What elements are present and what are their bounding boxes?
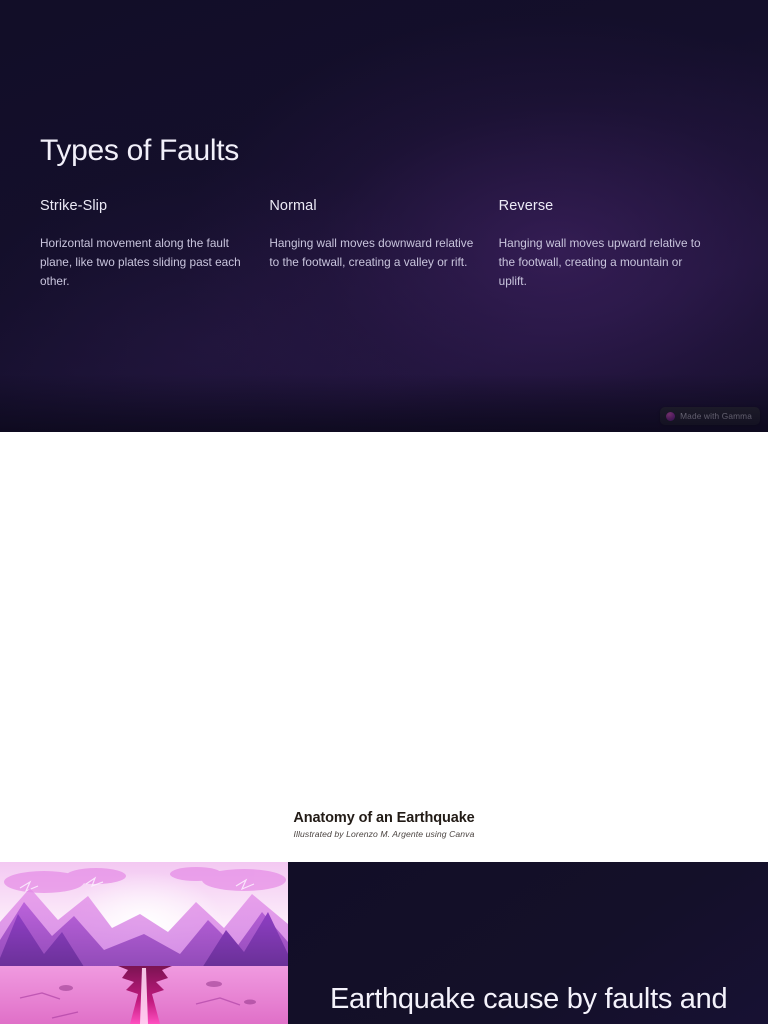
fault-body-strike-slip: Horizontal movement along the fault plan…	[40, 234, 245, 291]
earthquake-cause-heading: Earthquake cause by faults and movements…	[330, 980, 740, 1024]
bottom-text-panel: Earthquake cause by faults and movements…	[288, 862, 768, 1024]
fault-types-columns: Strike-Slip Horizontal movement along th…	[40, 198, 728, 291]
fault-column-reverse: Reverse Hanging wall moves upward relati…	[499, 198, 726, 291]
fault-body-reverse: Hanging wall moves upward relative to th…	[499, 234, 704, 291]
fault-column-strike-slip: Strike-Slip Horizontal movement along th…	[40, 198, 267, 291]
made-with-gamma-badge[interactable]: Made with Gamma	[660, 407, 760, 425]
earthquake-anatomy-illustration	[0, 432, 768, 862]
diagram-caption-title: Anatomy of an Earthquake	[0, 810, 768, 826]
slide-earthquake-diagram: Fault Seismic wave Epicenter Focus House…	[0, 432, 768, 862]
gamma-logo-icon	[666, 412, 675, 421]
fault-heading-normal: Normal	[269, 198, 496, 214]
fault-body-normal: Hanging wall moves downward relative to …	[269, 234, 474, 272]
page-title: Types of Faults	[40, 134, 239, 168]
slide-earthquake-cause: Earthquake cause by faults and movements…	[0, 862, 768, 1024]
made-with-gamma-label: Made with Gamma	[680, 411, 752, 421]
fault-heading-strike-slip: Strike-Slip	[40, 198, 267, 214]
diagram-caption-attribution: Illustrated by Lorenzo M. Argente using …	[0, 829, 768, 839]
canyon-rift-image	[0, 862, 288, 1024]
slide-types-of-faults: Types of Faults Strike-Slip Horizontal m…	[0, 0, 768, 432]
fault-column-normal: Normal Hanging wall moves downward relat…	[269, 198, 496, 291]
fault-heading-reverse: Reverse	[499, 198, 726, 214]
